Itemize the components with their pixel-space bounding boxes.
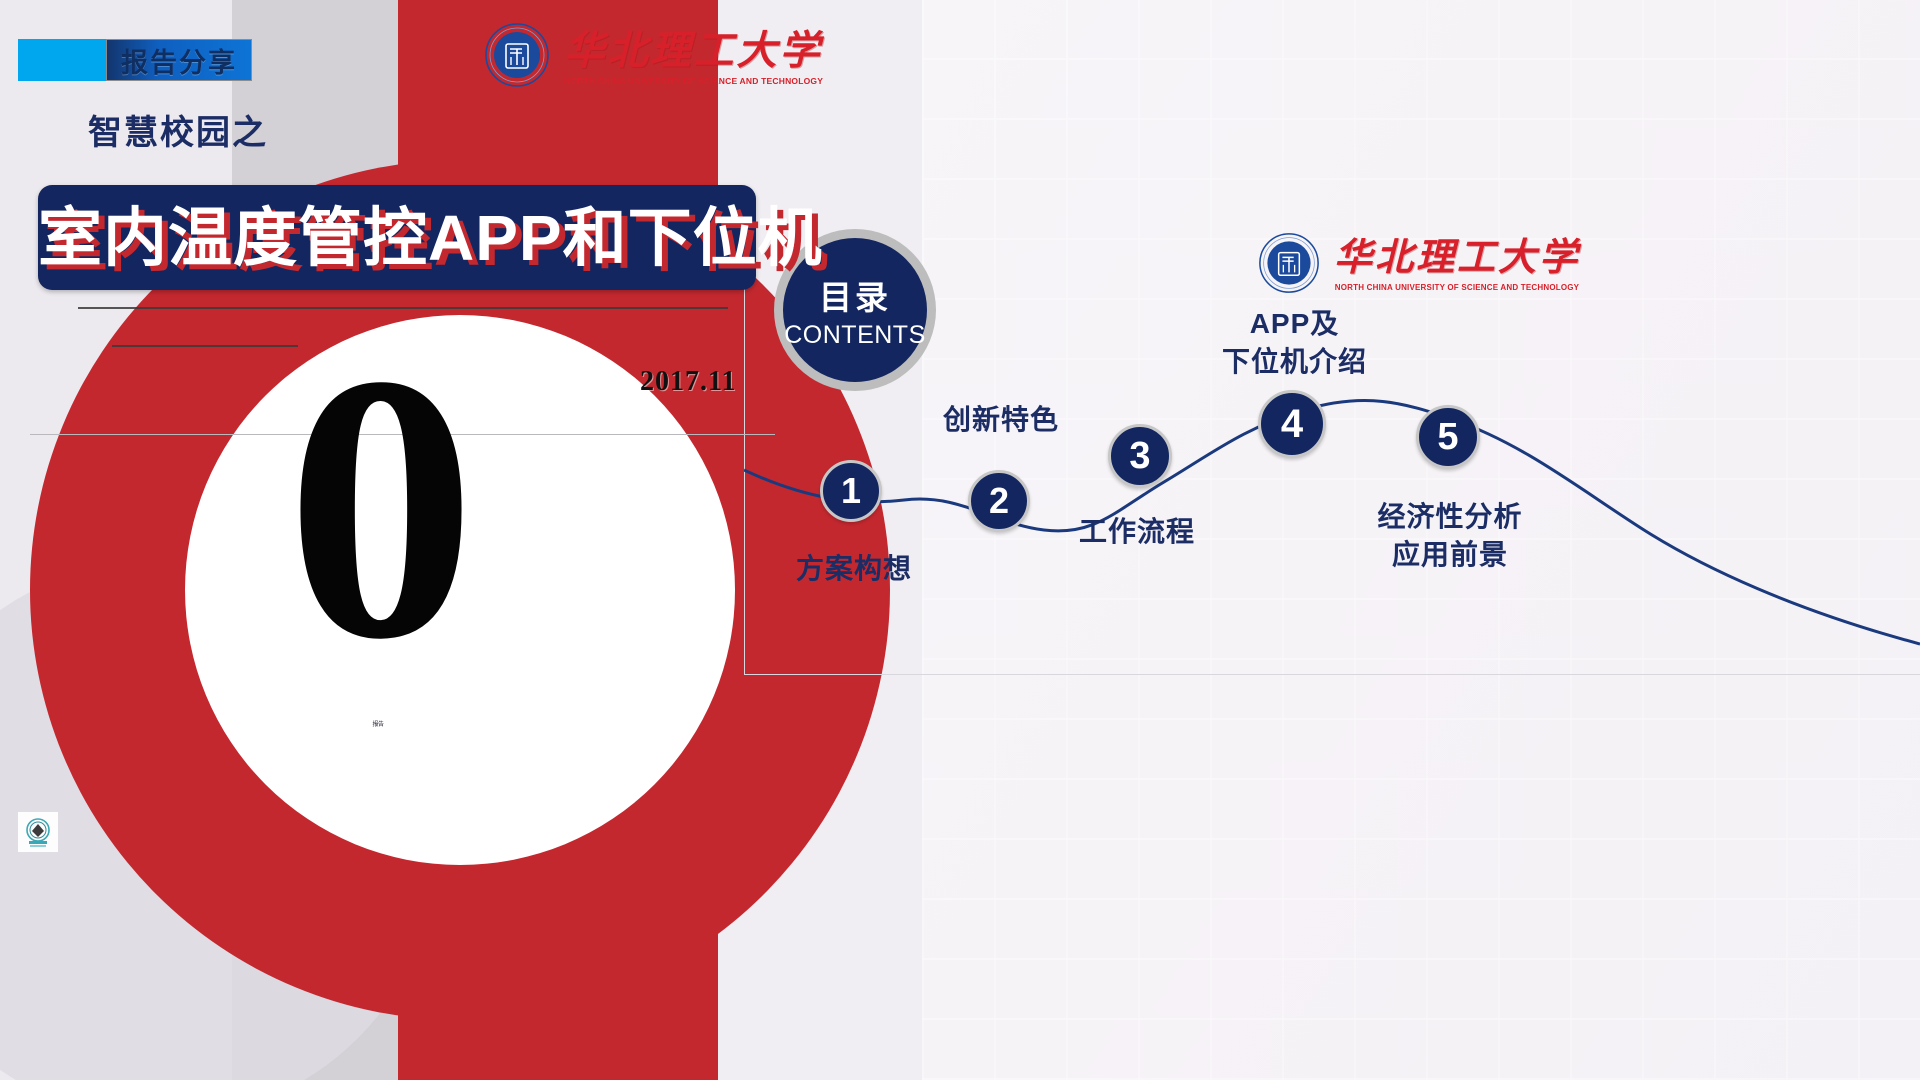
ncep-emblem xyxy=(18,812,58,852)
contents-node-1[interactable]: 1 xyxy=(820,460,882,522)
title-banner: 室内温度管控APP和下位机 室内温度管控APP和下位机 xyxy=(38,185,756,290)
tag-label: 报告分享 xyxy=(106,39,252,81)
page-title: 室内温度管控APP和下位机 xyxy=(38,201,756,275)
presentation-slide: 0 2017.11 报告 报告分享 智慧校园之 室内温度管控APP和下位机 室内… xyxy=(0,0,1920,1080)
contents-node-3[interactable]: 3 xyxy=(1108,424,1172,488)
date-label: 2017.11 xyxy=(640,366,736,398)
university-logo-top: 华北理工大学 NORTH CHINA UNIVERSITY OF SCIENCE… xyxy=(484,22,823,93)
contents-heading-en: CONTENTS xyxy=(784,321,926,350)
contents-label-5[interactable]: 经济性分析 应用前景 xyxy=(1370,498,1530,574)
ncep-emblem-icon xyxy=(21,815,55,849)
stem-chip: 报告 xyxy=(366,716,390,730)
zero-numeral: 0 xyxy=(286,318,476,698)
university-name-cn: 华北理工大学 xyxy=(565,30,823,72)
university-seal-icon xyxy=(484,22,550,93)
university-name-en: NORTH CHINA UNIVERSITY OF SCIENCE AND TE… xyxy=(564,76,823,86)
divider-line-short xyxy=(112,345,298,347)
report-share-tag[interactable]: 报告分享 xyxy=(18,39,252,81)
title-stack: 室内温度管控APP和下位机 室内温度管控APP和下位机 xyxy=(38,201,756,275)
tag-cyan-block xyxy=(18,39,106,81)
contents-node-4[interactable]: 4 xyxy=(1258,390,1326,458)
slide-subtitle: 智慧校园之 xyxy=(88,105,268,154)
contents-label-4[interactable]: APP及 下位机介绍 xyxy=(1222,305,1367,381)
contents-node-5[interactable]: 5 xyxy=(1416,405,1480,469)
contents-label-3[interactable]: 工作流程 xyxy=(1070,513,1204,551)
contents-label-2[interactable]: 创新特色 xyxy=(936,401,1066,439)
contents-label-1[interactable]: 方案构想 xyxy=(794,550,914,588)
university-wordmark: 华北理工大学 NORTH CHINA UNIVERSITY OF SCIENCE… xyxy=(564,30,823,86)
contents-heading-cn: 目录 xyxy=(819,271,891,319)
contents-node-2[interactable]: 2 xyxy=(968,470,1030,532)
